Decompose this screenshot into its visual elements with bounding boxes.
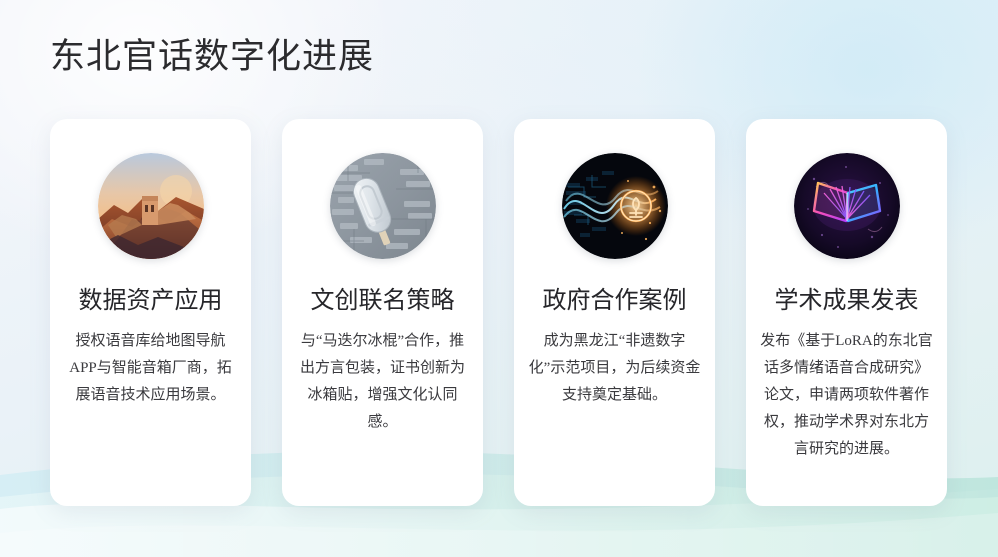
card-title: 文创联名策略 <box>311 288 455 314</box>
card-cultural-creative-cobrand[interactable]: 文创联名策略 与“马迭尔冰棍”合作，推出方言包装，证书创新为冰箱贴，增强文化认同… <box>282 119 483 506</box>
card-row: 数据资产应用 授权语音库给地图导航APP与智能音箱厂商，拓展语音技术应用场景。 <box>50 119 948 506</box>
card-academic-publication[interactable]: 学术成果发表 发布《基于LoRA的东北官话多情绪语音合成研究》论文，申请两项软件… <box>746 119 947 506</box>
card-data-asset-application[interactable]: 数据资产应用 授权语音库给地图导航APP与智能音箱厂商，拓展语音技术应用场景。 <box>50 119 251 506</box>
great-wall-sunset-photo <box>98 153 204 259</box>
digital-soundwave-emblem-photo <box>562 153 668 259</box>
card-body: 发布《基于LoRA的东北官话多情绪语音合成研究》论文，申请两项软件著作权，推动学… <box>759 328 935 463</box>
card-government-cooperation-case[interactable]: 政府合作案例 成为黑龙江“非遗数字化”示范项目，为后续资金支持奠定基础。 <box>514 119 715 506</box>
page-title: 东北官话数字化进展 <box>50 36 374 78</box>
slide-canvas: 东北官话数字化进展 <box>0 0 998 557</box>
card-title: 数据资产应用 <box>79 288 223 314</box>
card-body: 与“马迭尔冰棍”合作，推出方言包装，证书创新为冰箱贴，增强文化认同感。 <box>295 328 471 436</box>
card-title: 学术成果发表 <box>775 288 919 314</box>
card-body: 授权语音库给地图导航APP与智能音箱厂商，拓展语音技术应用场景。 <box>63 328 239 409</box>
card-title: 政府合作案例 <box>543 288 687 314</box>
popsicle-circuitboard-photo <box>330 153 436 259</box>
neon-open-book-photo <box>794 153 900 259</box>
card-body: 成为黑龙江“非遗数字化”示范项目，为后续资金支持奠定基础。 <box>527 328 703 409</box>
